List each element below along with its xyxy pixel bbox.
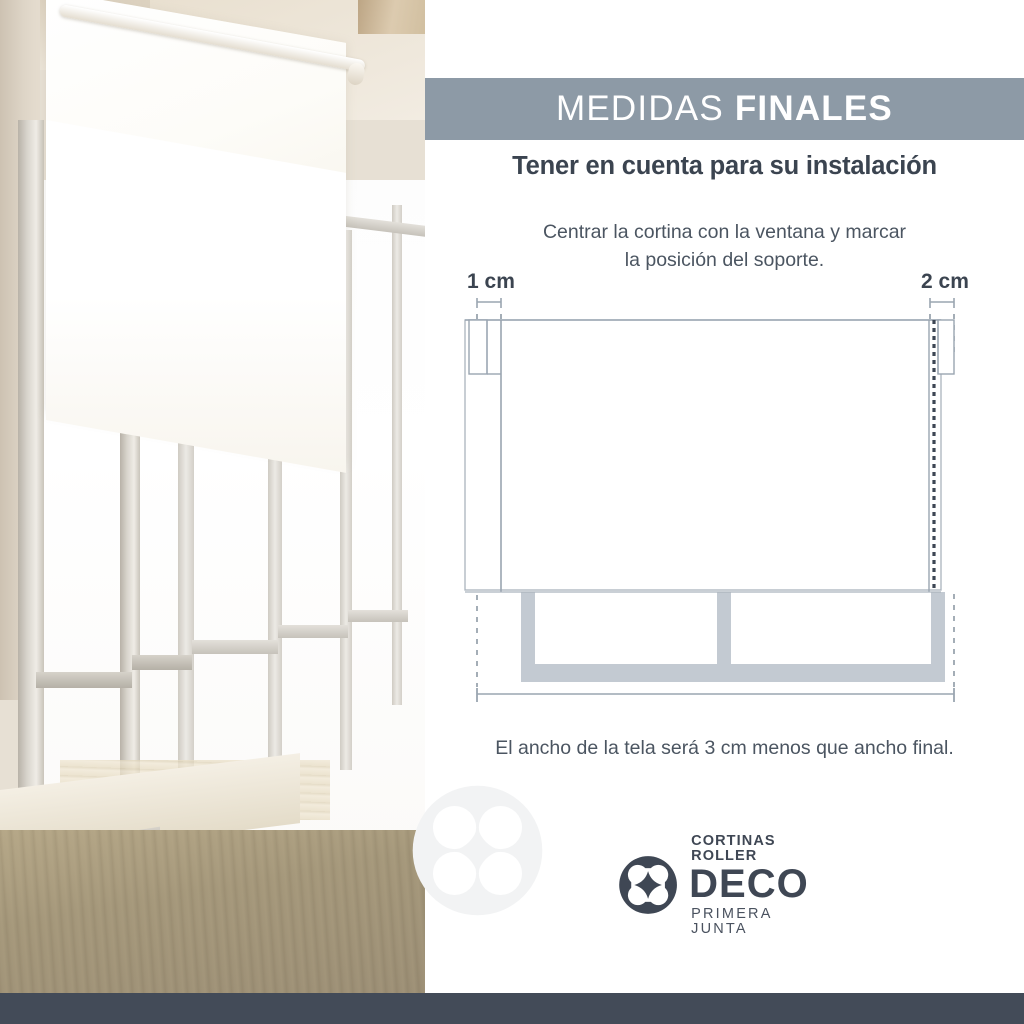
photo-rail-2 bbox=[132, 655, 192, 670]
subtitle: Tener en cuenta para su instalación bbox=[425, 152, 1024, 181]
photo-rail-3 bbox=[192, 640, 278, 654]
width-dimension-line bbox=[477, 688, 954, 702]
photo-mullion-6 bbox=[392, 205, 402, 705]
photo-roller-fabric-lower bbox=[46, 120, 346, 473]
logo-main-line: DECO bbox=[689, 864, 833, 904]
logo-watermark bbox=[410, 783, 545, 918]
header-banner: MEDIDAS FINALES bbox=[425, 78, 1024, 140]
infographic-page: MEDIDAS FINALES Tener en cuenta para su … bbox=[0, 0, 1024, 1024]
title-light: MEDIDAS bbox=[556, 89, 724, 128]
footer-bar bbox=[0, 993, 1024, 1024]
bracket-right bbox=[938, 320, 954, 374]
bracket-dimension-left bbox=[477, 298, 501, 308]
content-panel: MEDIDAS FINALES Tener en cuenta para su … bbox=[425, 0, 1024, 993]
brand-logo: CORTINAS ROLLER DECO PRIMERA JUNTA bbox=[618, 846, 833, 924]
lead-line-1: Centrar la cortina con la ventana y marc… bbox=[425, 218, 1024, 246]
installation-diagram: .ln{stroke:#9aa5b1;fill:none;} .ln-thin{… bbox=[425, 262, 1024, 732]
window-frame bbox=[521, 592, 945, 682]
page-title: MEDIDAS FINALES bbox=[556, 89, 893, 129]
photo-wood-trim bbox=[358, 0, 425, 34]
logo-top-line: CORTINAS ROLLER bbox=[691, 834, 833, 863]
title-bold: FINALES bbox=[735, 89, 893, 128]
photo-rail-4 bbox=[278, 625, 348, 638]
photo-wood-floor bbox=[0, 830, 425, 993]
photo-rail-1 bbox=[36, 672, 132, 688]
photo-rail-5 bbox=[348, 610, 408, 622]
deco-flower-icon bbox=[618, 852, 678, 918]
bracket-dimension-right bbox=[930, 298, 954, 308]
product-photo bbox=[0, 0, 425, 993]
logo-wordmark: CORTINAS ROLLER DECO PRIMERA JUNTA bbox=[689, 834, 833, 936]
footnote: El ancho de la tela será 3 cm menos que … bbox=[425, 737, 1024, 760]
blind-fabric-panel bbox=[465, 320, 941, 590]
logo-bottom-line: PRIMERA JUNTA bbox=[691, 907, 833, 936]
